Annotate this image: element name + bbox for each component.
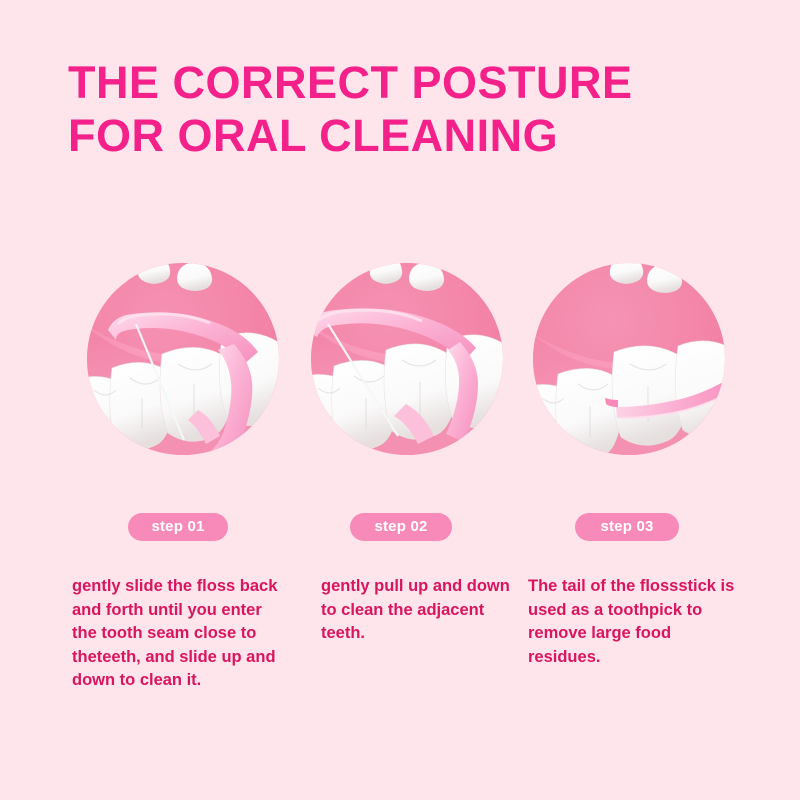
step-badge-01: step 01 — [128, 513, 228, 541]
step-description-02: gently pull up and down to clean the adj… — [321, 575, 511, 646]
step-badge-02: step 02 — [350, 513, 452, 541]
page-title-line-2: FOR ORAL CLEANING — [68, 109, 688, 162]
step-description-03: The tail of the flossstick is used as a … — [528, 575, 748, 669]
illustrations-row — [0, 262, 800, 458]
step-description-01: gently slide the floss back and forth un… — [72, 575, 287, 693]
illustration-step-02 — [310, 262, 504, 456]
page-title: THE CORRECT POSTURE FOR ORAL CLEANING — [68, 56, 688, 162]
illustration-step-03 — [532, 262, 726, 456]
illustration-step-01 — [86, 262, 280, 456]
infographic-page: THE CORRECT POSTURE FOR ORAL CLEANING — [0, 0, 800, 800]
step-badge-03: step 03 — [575, 513, 679, 541]
page-title-line-1: THE CORRECT POSTURE — [68, 56, 688, 109]
